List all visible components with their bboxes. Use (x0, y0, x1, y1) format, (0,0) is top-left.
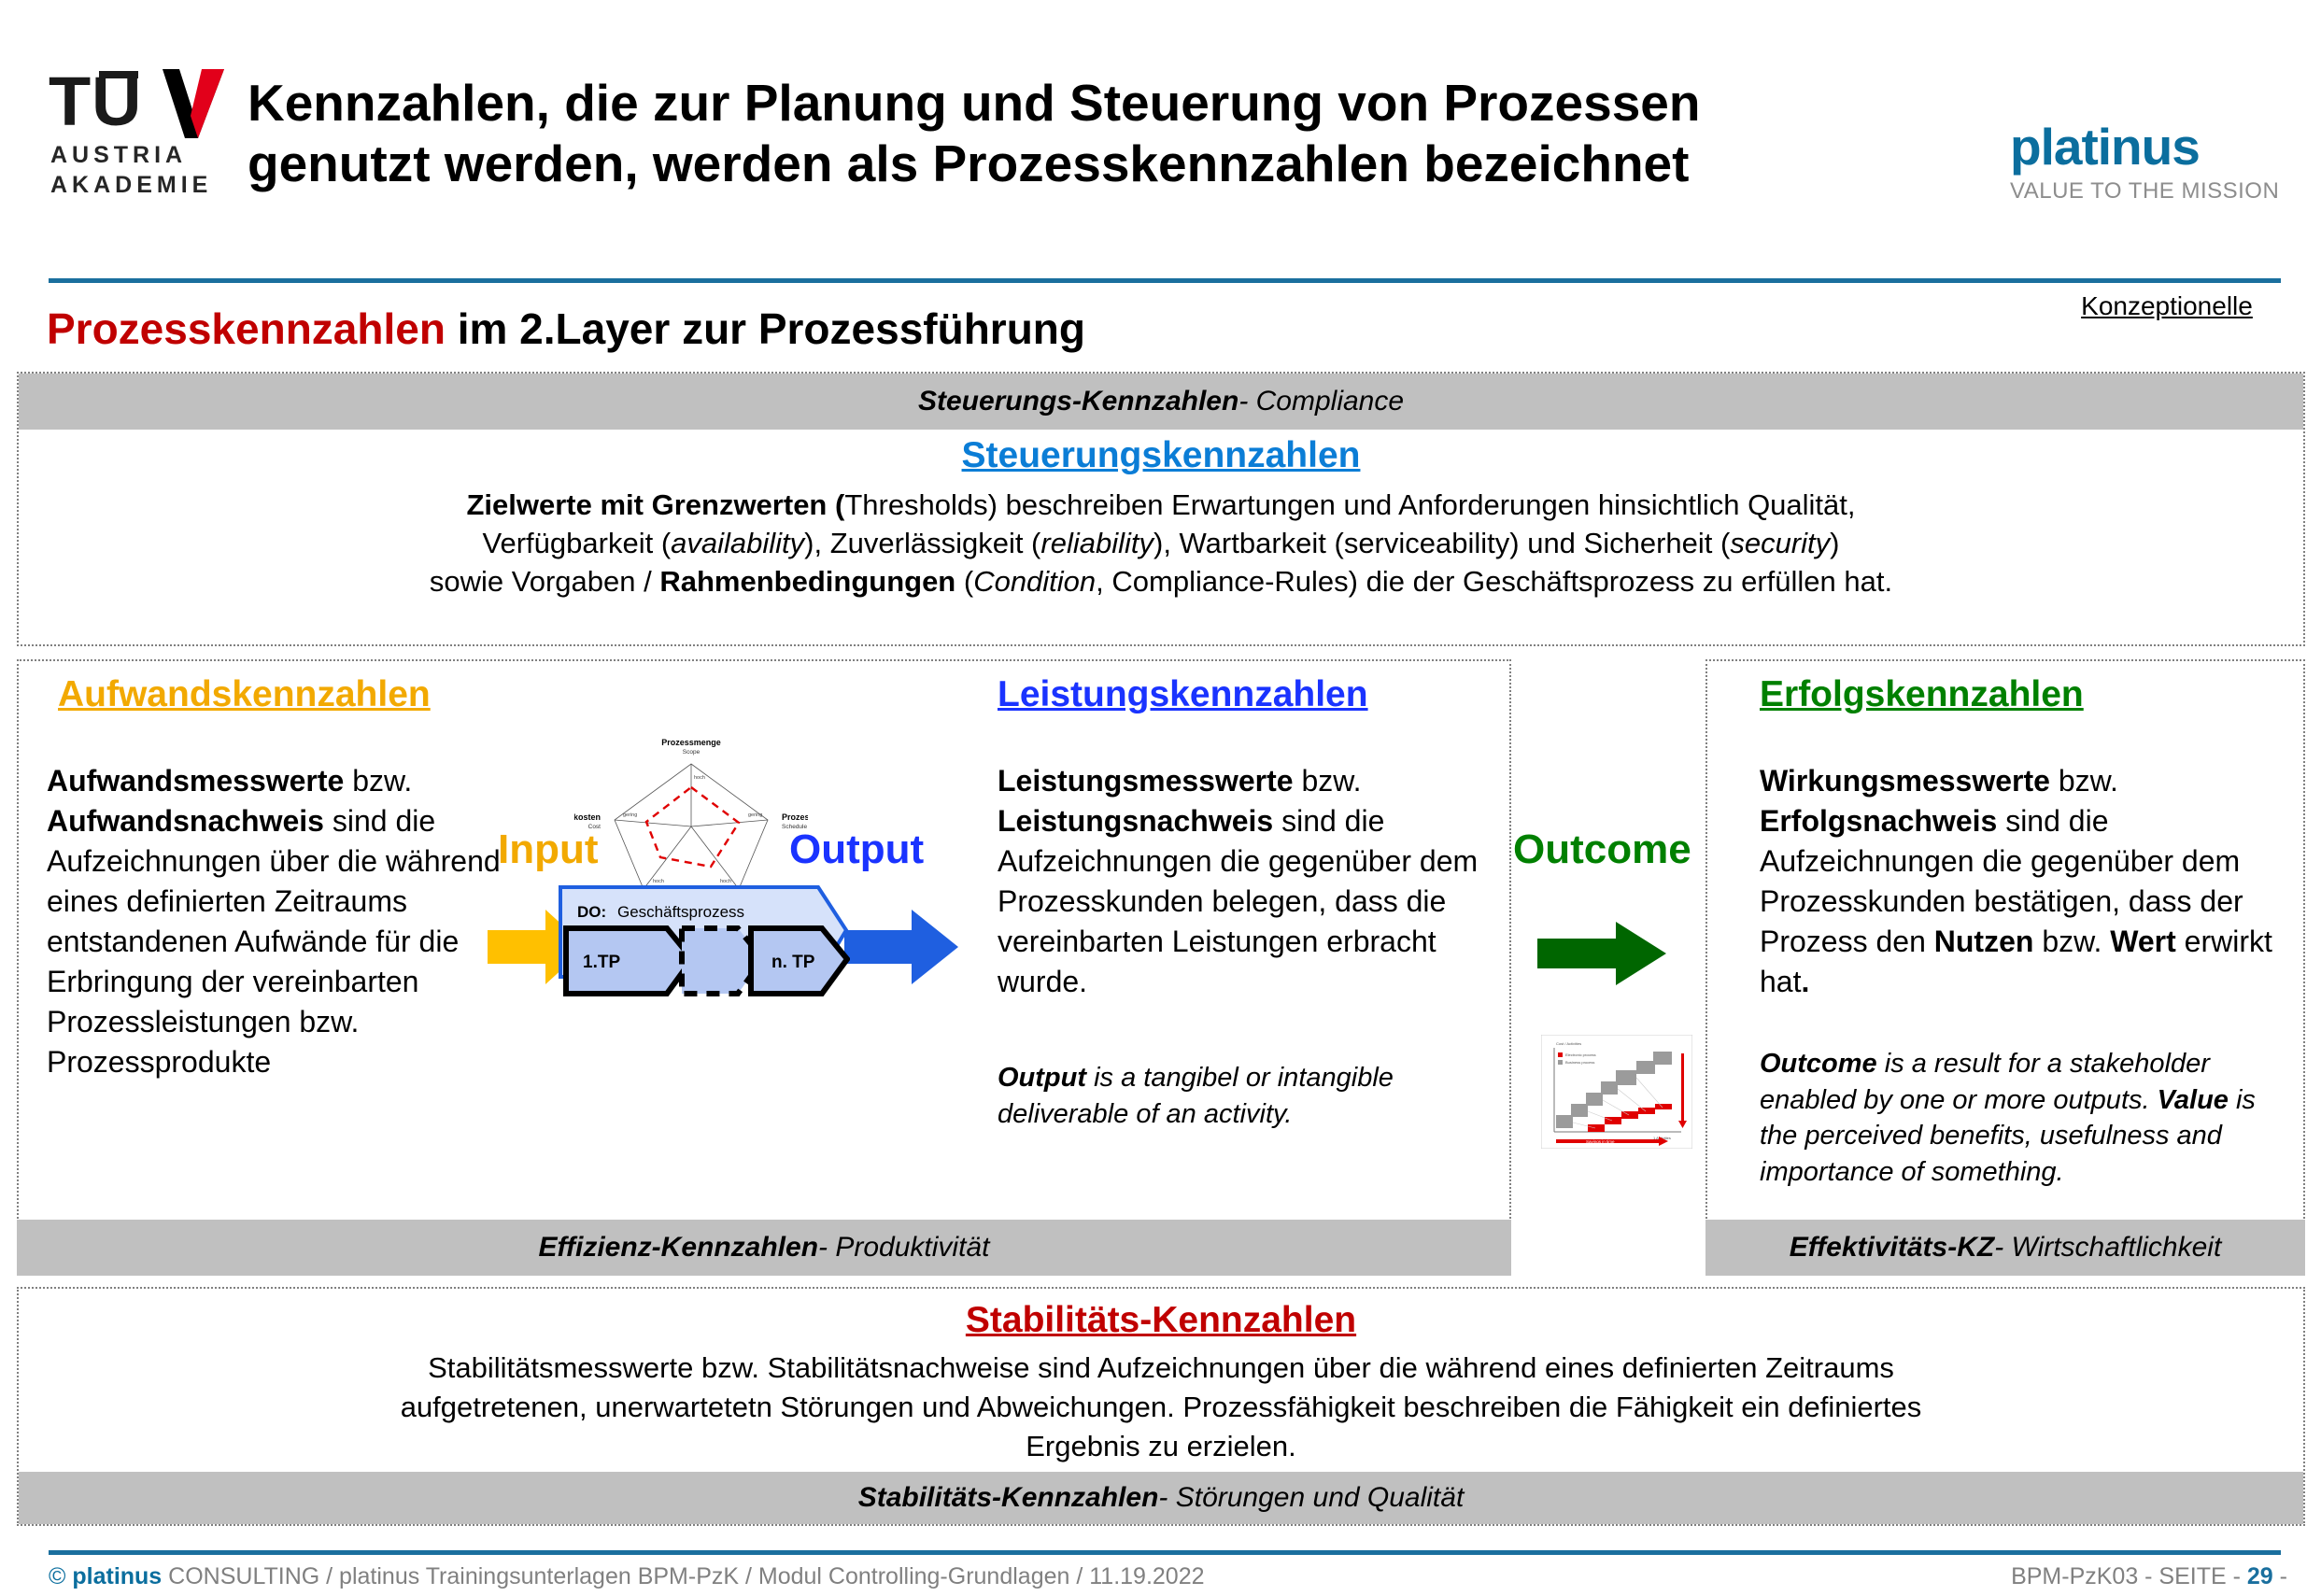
header-divider-rule (49, 278, 2281, 283)
steuerungs-line-1: Zielwerte mit Grenzwerten (Thresholds) b… (19, 486, 2303, 524)
subtitle-rest: im 2.Layer zur Prozessführung (446, 304, 1085, 353)
svg-text:hoch: hoch (694, 775, 705, 781)
s3e: , Compliance-Rules) die der Geschäftspro… (1096, 565, 1892, 598)
steuerungs-bar-rest: - Compliance (1238, 386, 1404, 417)
s2b: availability (671, 527, 804, 559)
erfolg-note-bold-2: Value (2158, 1085, 2229, 1115)
steuerungs-line1-bold: Zielwerte mit Grenzwerten ( (466, 488, 844, 521)
s3a: sowie Vorgaben / (430, 565, 659, 598)
erfolg-bold-3: Nutzen (1934, 925, 2034, 958)
radar-label-prozesszeit: Prozesszeit (782, 812, 808, 822)
s2e: ), Wartbarkeit (serviceability) und Sich… (1153, 527, 1730, 559)
process-header-bold: DO: (577, 903, 606, 921)
s2d: reliability (1040, 527, 1153, 559)
erfolg-bold-5: . (1801, 965, 1809, 998)
stabilitaets-kennzahlen-panel: Stabilitäts-Kennzahlen Stabilitätsmesswe… (17, 1287, 2305, 1526)
stabilitaets-line-2: aufgetretenen, unerwartetetn Störungen u… (19, 1388, 2303, 1427)
effektiv-bar-rest: - Wirtschaftlichkeit (1994, 1232, 2221, 1264)
aufwand-bold-2: Aufwandsnachweis (47, 804, 324, 838)
erfolg-outcome-note: Outcome is a result for a stakeholder en… (1760, 1046, 2292, 1190)
steuerungs-bar-bold: Steuerungs-Kennzahlen (918, 386, 1238, 417)
s2a: Verfügbarkeit ( (483, 527, 672, 559)
platinus-tagline: VALUE TO THE MISSION (2010, 178, 2300, 205)
leistung-note-bold: Output (998, 1063, 1086, 1093)
outcome-label: Outcome (1513, 826, 1691, 873)
steuerungs-body: Steuerungskennzahlen Zielwerte mit Grenz… (19, 435, 2303, 601)
svg-text:Cost / Activities: Cost / Activities (1556, 1041, 1581, 1046)
prozesskennzahlen-radar-chart: Prozessmenge Prozesszeit Kundenzufrieden… (574, 730, 808, 908)
stabilitaets-heading: Stabilitäts-Kennzahlen (19, 1300, 2303, 1341)
geschaeftsprozess-diagram: DO: Geschäftsprozess 1.TP n. TP (559, 885, 850, 1007)
steuerungs-line-2: Verfügbarkeit (availability), Zuverlässi… (19, 524, 2303, 562)
s3c: ( (955, 565, 973, 598)
process-step-last: n. TP (771, 953, 815, 972)
s2g: ) (1830, 527, 1839, 559)
aufwand-bold-1: Aufwandsmesswerte (47, 764, 344, 798)
page-title-line-2: genutzt werden, werden als Prozesskennza… (248, 134, 1957, 194)
steuerungskennzahlen-heading: Steuerungskennzahlen (19, 435, 2303, 476)
erfolg-mid-3: bzw. (2033, 925, 2110, 958)
tuv-logo-line2: AKADEMIE (50, 172, 212, 199)
s3b: Rahmenbedingungen (659, 565, 955, 598)
tuv-letters: T (49, 62, 89, 141)
radar-label-prozessmenge: Prozessmenge (661, 738, 721, 747)
radar-label-prozesskosten: Prozesskosten (574, 812, 601, 822)
copyright-symbol: © (49, 1563, 65, 1589)
svg-text:Schedule: Schedule (782, 824, 807, 830)
erfolgskennzahlen-body: Wirkungsmesswerte bzw. Erfolgsnachweis s… (1760, 761, 2287, 1002)
slide-header: T U AUSTRIA AKADEMIE Kennzahlen, die zur… (0, 0, 2321, 280)
page-title: Kennzahlen, die zur Planung und Steuerun… (248, 73, 1957, 194)
aufwandskennzahlen-heading: Aufwandskennzahlen (58, 674, 431, 715)
footer-page-number: 29 (2247, 1563, 2273, 1589)
tuv-macron-bar (99, 71, 138, 78)
effizienz-bar-rest: - Produktivität (818, 1232, 989, 1264)
process-step-first: 1.TP (583, 953, 620, 972)
svg-text:hoch: hoch (653, 879, 664, 884)
footer-brand: platinus (72, 1563, 162, 1589)
outcome-arrow-icon (1537, 920, 1668, 987)
erfolgskennzahlen-heading: Erfolgskennzahlen (1760, 674, 2084, 715)
footer-text: CONSULTING / platinus Trainingsunterlage… (162, 1563, 1204, 1589)
s2f: security (1730, 527, 1830, 559)
footer-divider-rule (49, 1550, 2281, 1555)
output-label: Output (789, 826, 924, 873)
output-arrow-icon (844, 908, 960, 986)
erfolg-bold-2: Erfolgsnachweis (1760, 804, 1997, 838)
effektivitaets-kennzahlen-bar: Effektivitäts-KZ - Wirtschaftlichkeit (1705, 1220, 2305, 1276)
platinus-brand-name: platinus (2010, 121, 2300, 173)
konzeptionelle-label: Konzeptionelle (2055, 291, 2279, 321)
stabilitaets-bar: Stabilitäts-Kennzahlen - Störungen und Q… (19, 1472, 2303, 1524)
subtitle-highlight: Prozesskennzahlen (47, 304, 446, 353)
tuv-logo-line1: AUSTRIA (50, 142, 187, 169)
tuv-austria-akademie-logo: T U AUSTRIA AKADEMIE (49, 67, 235, 198)
steuerungs-line-3: sowie Vorgaben / Rahmenbedingungen (Cond… (19, 562, 2303, 600)
erfolg-note-bold-1: Outcome (1760, 1049, 1877, 1079)
svg-text:Scope: Scope (683, 749, 701, 756)
platinus-logo: platinus VALUE TO THE MISSION (2010, 121, 2300, 205)
svg-text:Savings in time: Savings in time (1586, 1139, 1615, 1144)
steuerungs-kennzahlen-bar: Steuerungs-Kennzahlen - Compliance (19, 374, 2303, 430)
savings-staircase-chart: Electronic process Business process Cost… (1541, 1035, 1692, 1149)
footer-right-text: BPM-PzK03 - SEITE - 29 - (2011, 1563, 2287, 1590)
stabilitaets-body: Stabilitäts-Kennzahlen Stabilitätsmesswe… (19, 1300, 2303, 1466)
leistung-output-note: Output is a tangibel or intangible deliv… (998, 1060, 1507, 1132)
leistungskennzahlen-heading: Leistungskennzahlen (998, 674, 1368, 715)
section-subtitle: Prozesskennzahlen im 2.Layer zur Prozess… (47, 304, 1085, 354)
footer-left-text: © platinus CONSULTING / platinus Trainin… (49, 1563, 1205, 1590)
svg-text:Cost: Cost (588, 824, 601, 830)
aufwand-rest: sind die Aufzeichnungen über die während… (47, 804, 501, 1079)
footer-dash-1: - (2233, 1563, 2247, 1589)
svg-text:Business process: Business process (1565, 1060, 1594, 1065)
effektiv-bar-bold: Effektivitäts-KZ (1790, 1232, 1995, 1264)
stabilitaets-bar-bold: Stabilitäts-Kennzahlen (858, 1482, 1159, 1514)
erfolg-bold-4: Wert (2110, 925, 2176, 958)
steuerungskennzahlen-panel: Steuerungs-Kennzahlen - Compliance Steue… (17, 372, 2305, 646)
s2c: ), Zuverlässigkeit ( (804, 527, 1040, 559)
footer-doc-id: BPM-PzK03 - SEITE (2011, 1563, 2233, 1589)
tuv-wordmark: T U (49, 67, 235, 140)
erfolg-mid-1: bzw. (2050, 764, 2118, 798)
stabilitaets-line-1: Stabilitätsmesswerte bzw. Stabilitätsnac… (19, 1349, 2303, 1388)
svg-text:hoch: hoch (720, 879, 731, 884)
svg-text:gering: gering (748, 812, 762, 818)
stabilitaets-bar-rest: - Störungen und Qualität (1158, 1482, 1464, 1514)
effizienz-kennzahlen-bar: Effizienz-Kennzahlen - Produktivität (17, 1220, 1511, 1276)
leistung-mid-1: bzw. (1294, 764, 1362, 798)
tuv-red-v-icon (159, 67, 226, 138)
leistungskennzahlen-body: Leistungsmesswerte bzw. Leistungsnachwei… (998, 761, 1493, 1002)
svg-text:Electronic process: Electronic process (1565, 1052, 1596, 1057)
effizienz-bar-bold: Effizienz-Kennzahlen (539, 1232, 818, 1264)
aufwandskennzahlen-body: Aufwandsmesswerte bzw. Aufwandsnachweis … (47, 761, 532, 1082)
leistung-bold-2: Leistungsnachweis (998, 804, 1273, 838)
footer-dash-2: - (2273, 1563, 2287, 1589)
page-title-line-1: Kennzahlen, die zur Planung und Steuerun… (248, 73, 1957, 134)
s3d: Condition (973, 565, 1096, 598)
leistung-bold-1: Leistungsmesswerte (998, 764, 1294, 798)
steuerungs-line1-rest: Thresholds) beschreiben Erwartungen und … (844, 488, 1855, 521)
erfolg-bold-1: Wirkungsmesswerte (1760, 764, 2050, 798)
aufwand-mid-1: bzw. (344, 764, 412, 798)
process-header-rest: Geschäftsprozess (617, 903, 744, 921)
stabilitaets-line-3: Ergebnis zu erzielen. (19, 1427, 2303, 1466)
svg-text:gering: gering (623, 812, 637, 818)
